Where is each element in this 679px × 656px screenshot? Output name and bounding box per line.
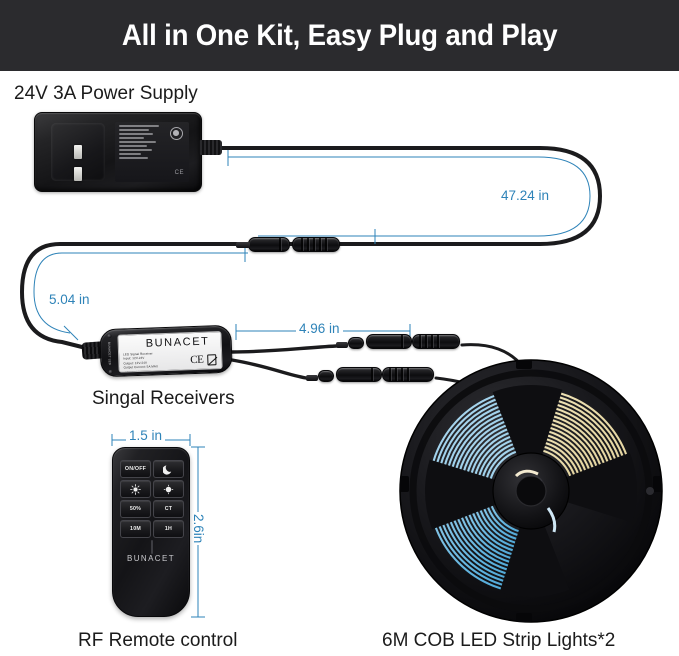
brightness-up-icon	[130, 484, 141, 495]
dimension-label-remote-height: 2.6in	[191, 512, 206, 545]
adapter-ce-mark: CE	[175, 170, 184, 176]
remote-button-timer-10m[interactable]: 10M	[120, 520, 151, 538]
remote-button-color-temp[interactable]: CT	[153, 500, 184, 518]
remote-button-label: 1H	[165, 526, 172, 532]
adapter-spec-label: CE	[115, 122, 189, 182]
remote-button-label: 50%	[130, 506, 141, 512]
dc-connector-male-out-bottom	[336, 367, 382, 382]
adapter-prong-left	[74, 145, 82, 159]
power-adapter: CE	[34, 112, 202, 192]
label-power-supply: 24V 3A Power Supply	[14, 83, 198, 105]
remote-brand: BUNACET	[113, 554, 189, 563]
adapter-prong-plate	[51, 123, 105, 181]
label-rf-remote: RF Remote control	[78, 630, 237, 652]
dimension-label-power-cable: 47.24 in	[498, 188, 552, 203]
weee-bin-icon	[207, 354, 216, 365]
dc-connector-tip-out-bottom	[306, 375, 318, 381]
led-strip-reel	[398, 358, 664, 624]
receiver-brand: BUNACET	[146, 335, 210, 349]
adapter-strain-relief	[198, 140, 222, 155]
receiver-spec-list: LED Signal Receiver Input: 12V-24V Outpu…	[123, 351, 176, 373]
branch-cable-top	[232, 346, 336, 352]
dimension-label-output-cable: 4.96 in	[296, 321, 343, 336]
receiver-side-markings: BUNACET LED	[103, 334, 115, 374]
remote-button-timer-1h[interactable]: 1H	[153, 520, 184, 538]
page-title: All in One Kit, Easy Plug and Play	[122, 19, 557, 53]
remote-button-onoff[interactable]: ON/OFF	[120, 460, 151, 478]
moon-icon	[163, 464, 174, 475]
reel-side-stud	[646, 487, 654, 495]
dc-connector-small-out-top	[348, 337, 364, 349]
dc-connector-male-mid	[248, 237, 290, 252]
dc-connector-tip-mid	[236, 242, 250, 248]
receiver-screw-bottom	[108, 370, 112, 374]
dimension-label-input-cable: 5.04 in	[46, 292, 93, 307]
remote-button-night-mode[interactable]	[153, 460, 184, 478]
dimension-label-remote-width: 1.5 in	[126, 428, 165, 443]
remote-button-grid: ON/OFF	[120, 460, 184, 538]
brightness-down-icon	[163, 484, 174, 495]
receiver-ce-mark: CE	[190, 354, 203, 366]
product-infographic: All in One Kit, Easy Plug and Play	[0, 0, 679, 656]
remote-button-brightness-down[interactable]	[153, 480, 184, 498]
rf-remote-control[interactable]: ON/OFF	[112, 447, 190, 617]
remote-button-brightness-up[interactable]	[120, 480, 151, 498]
receiver-label-face: BUNACET LED Signal Receiver Input: 12V-2…	[117, 331, 222, 373]
remote-button-label: ON/OFF	[125, 466, 146, 472]
header-banner: All in One Kit, Easy Plug and Play	[0, 0, 679, 71]
remote-button-label: 10M	[130, 526, 141, 532]
remote-button-50-percent[interactable]: 50%	[120, 500, 151, 518]
signal-receiver: BUNACET LED BUNACET LED Signal Receiver …	[99, 325, 233, 378]
remote-seam-line	[151, 540, 153, 554]
dc-connector-female-mid	[292, 237, 340, 252]
adapter-prong-right	[74, 167, 82, 181]
adapter-certification-icon	[170, 127, 183, 140]
label-signal-receivers: Singal Receivers	[92, 388, 235, 410]
dc-connector-tip-out-top	[336, 342, 348, 348]
branch-cable-bottom	[232, 360, 306, 378]
dc-connector-small-out-bottom	[318, 370, 334, 382]
dc-connector-male-out-top	[366, 334, 412, 349]
dc-connector-female-out-top	[412, 334, 460, 349]
label-led-strip: 6M COB LED Strip Lights*2	[382, 630, 615, 652]
remote-button-label: CT	[165, 506, 172, 512]
receiver-side-text: BUNACET LED	[107, 342, 112, 365]
receiver-screw-top	[107, 334, 111, 338]
